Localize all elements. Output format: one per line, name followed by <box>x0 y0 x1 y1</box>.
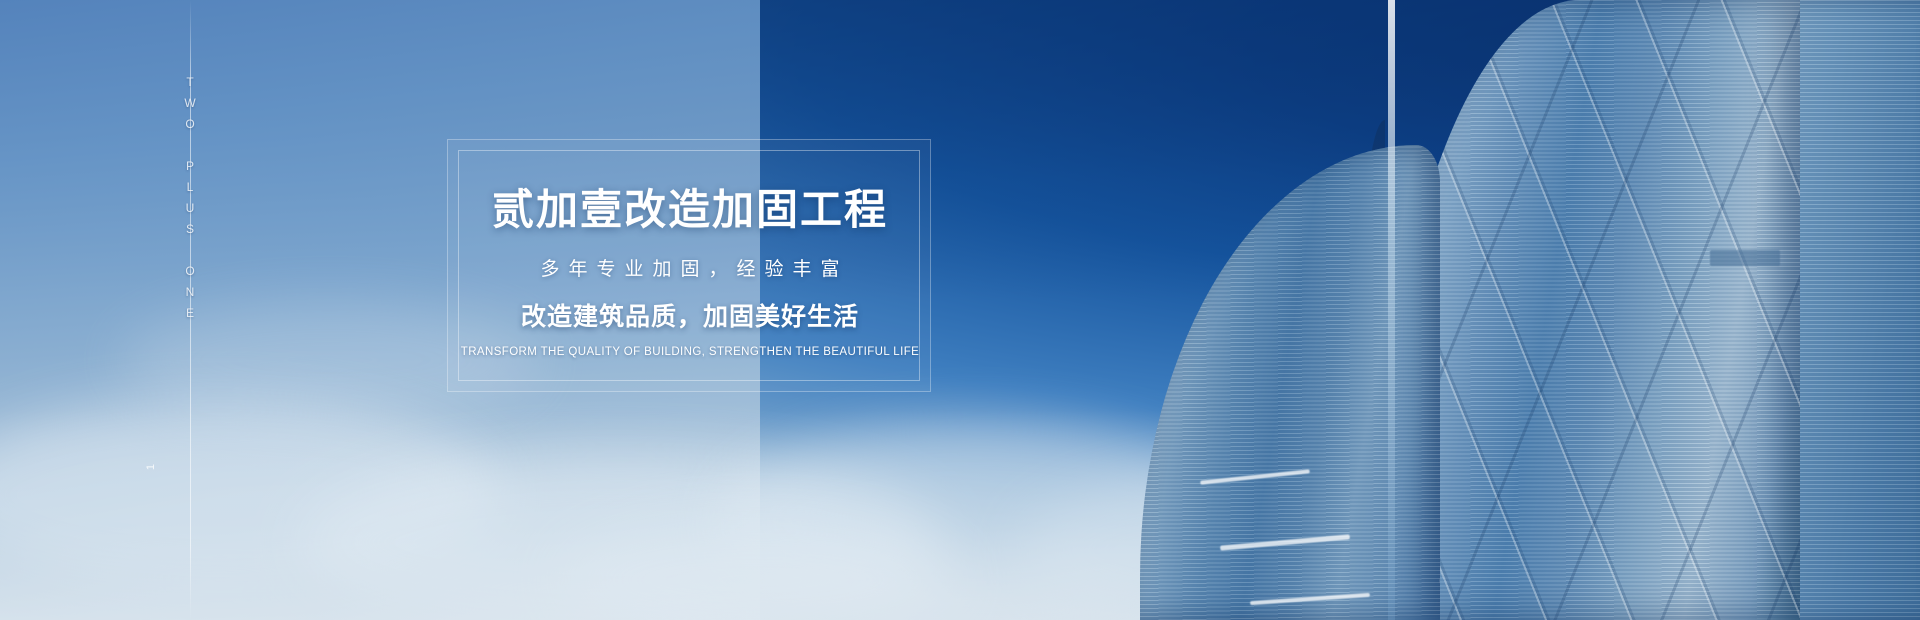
window-glint <box>1710 250 1780 266</box>
banner-title: 贰加壹改造加固工程 <box>492 189 888 231</box>
facade-ribs-secondary <box>1380 0 1800 620</box>
skyscraper-photo <box>1120 0 1920 620</box>
facade-bands <box>1140 145 1440 620</box>
hero-banner: TWO PLUS ONE 1 贰加壹改造加固工程 多年专业加固，经验丰富 改造建… <box>0 0 1920 620</box>
headline-panel-content: 贰加壹改造加固工程 多年专业加固，经验丰富 改造建筑品质，加固美好生活 TRAN… <box>448 140 932 393</box>
tower-front <box>1140 145 1440 620</box>
vertical-brand-label: TWO PLUS ONE <box>175 75 205 327</box>
headline-panel: 贰加壹改造加固工程 多年专业加固，经验丰富 改造建筑品质，加固美好生活 TRAN… <box>447 139 931 392</box>
tower-edge-highlight <box>1388 0 1395 620</box>
banner-english-tagline: TRANSFORM THE QUALITY OF BUILDING, STREN… <box>461 347 919 359</box>
banner-subtitle: 多年专业加固，经验丰富 <box>531 260 848 279</box>
slide-index-label: 1 <box>145 462 157 470</box>
tower-tall <box>1380 0 1800 620</box>
banner-slogan: 改造建筑品质，加固美好生活 <box>521 305 859 330</box>
